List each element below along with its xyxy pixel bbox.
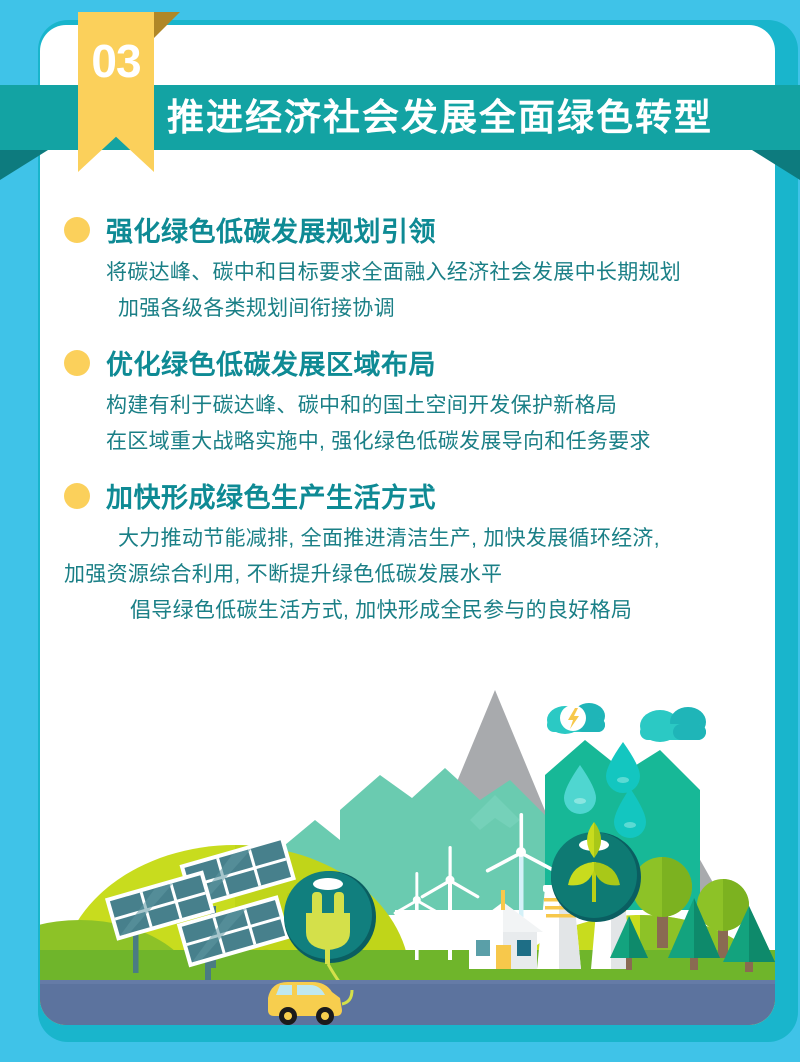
bullet-dot-icon [64,217,90,243]
section-1-header: 强化绿色低碳发展规划引领 [40,210,775,249]
bullet-dot-icon [64,483,90,509]
section-3-header: 加快形成绿色生产生活方式 [40,476,775,515]
road [40,980,775,984]
section-2-lines: 构建有利于碳达峰、碳中和的国土空间开发保护新格局 在区域重大战略实施中, 强化绿… [40,382,775,460]
section-2-header: 优化绿色低碳发展区域布局 [40,343,775,382]
section-number-ribbon: 03 [78,12,154,172]
illustration [40,680,775,1025]
cloud-lightning-icon [547,703,605,734]
banner-fold-right [752,150,800,180]
ribbon-fold [154,12,180,38]
section-1: 强化绿色低碳发展规划引领 将碳达峰、碳中和目标要求全面融入经济社会发展中长期规划… [40,210,775,327]
section-3-line-1: 大力推动节能减排, 全面推进清洁生产, 加快发展循环经济, [118,521,775,557]
section-3-lines: 大力推动节能减排, 全面推进清洁生产, 加快发展循环经济, 加强资源综合利用, … [40,515,775,629]
infographic-page: 强化绿色低碳发展规划引领 将碳达峰、碳中和目标要求全面融入经济社会发展中长期规划… [0,0,800,1062]
water-drop [606,742,640,793]
section-2-line-2: 在区域重大战略实施中, 强化绿色低碳发展导向和任务要求 [106,424,775,460]
section-3: 加快形成绿色生产生活方式 大力推动节能减排, 全面推进清洁生产, 加快发展循环经… [40,476,775,629]
section-2-line-1: 构建有利于碳达峰、碳中和的国土空间开发保护新格局 [106,388,775,424]
sections-container: 强化绿色低碳发展规划引领 将碳达峰、碳中和目标要求全面融入经济社会发展中长期规划… [40,210,775,645]
cloud-icon [640,707,706,742]
section-1-line-1: 将碳达峰、碳中和目标要求全面融入经济社会发展中长期规划 [106,255,775,291]
content-card: 强化绿色低碳发展规划引领 将碳达峰、碳中和目标要求全面融入经济社会发展中长期规划… [40,25,775,1025]
section-number: 03 [78,34,154,88]
section-1-line-2: 加强各级各类规划间衔接协调 [118,291,775,327]
bullet-dot-icon [64,350,90,376]
section-3-line-3: 倡导绿色低碳生活方式, 加快形成全民参与的良好格局 [130,593,775,629]
section-2-title: 优化绿色低碳发展区域布局 [106,343,436,382]
section-1-title: 强化绿色低碳发展规划引领 [106,210,436,249]
section-2: 优化绿色低碳发展区域布局 构建有利于碳达峰、碳中和的国土空间开发保护新格局 在区… [40,343,775,460]
road [40,980,775,1025]
section-1-lines: 将碳达峰、碳中和目标要求全面融入经济社会发展中长期规划 加强各级各类规划间衔接协… [40,249,775,327]
section-3-line-2: 加强资源综合利用, 不断提升绿色低碳发展水平 [64,557,775,593]
section-3-title: 加快形成绿色生产生活方式 [106,476,436,515]
banner-fold-left [0,150,48,180]
